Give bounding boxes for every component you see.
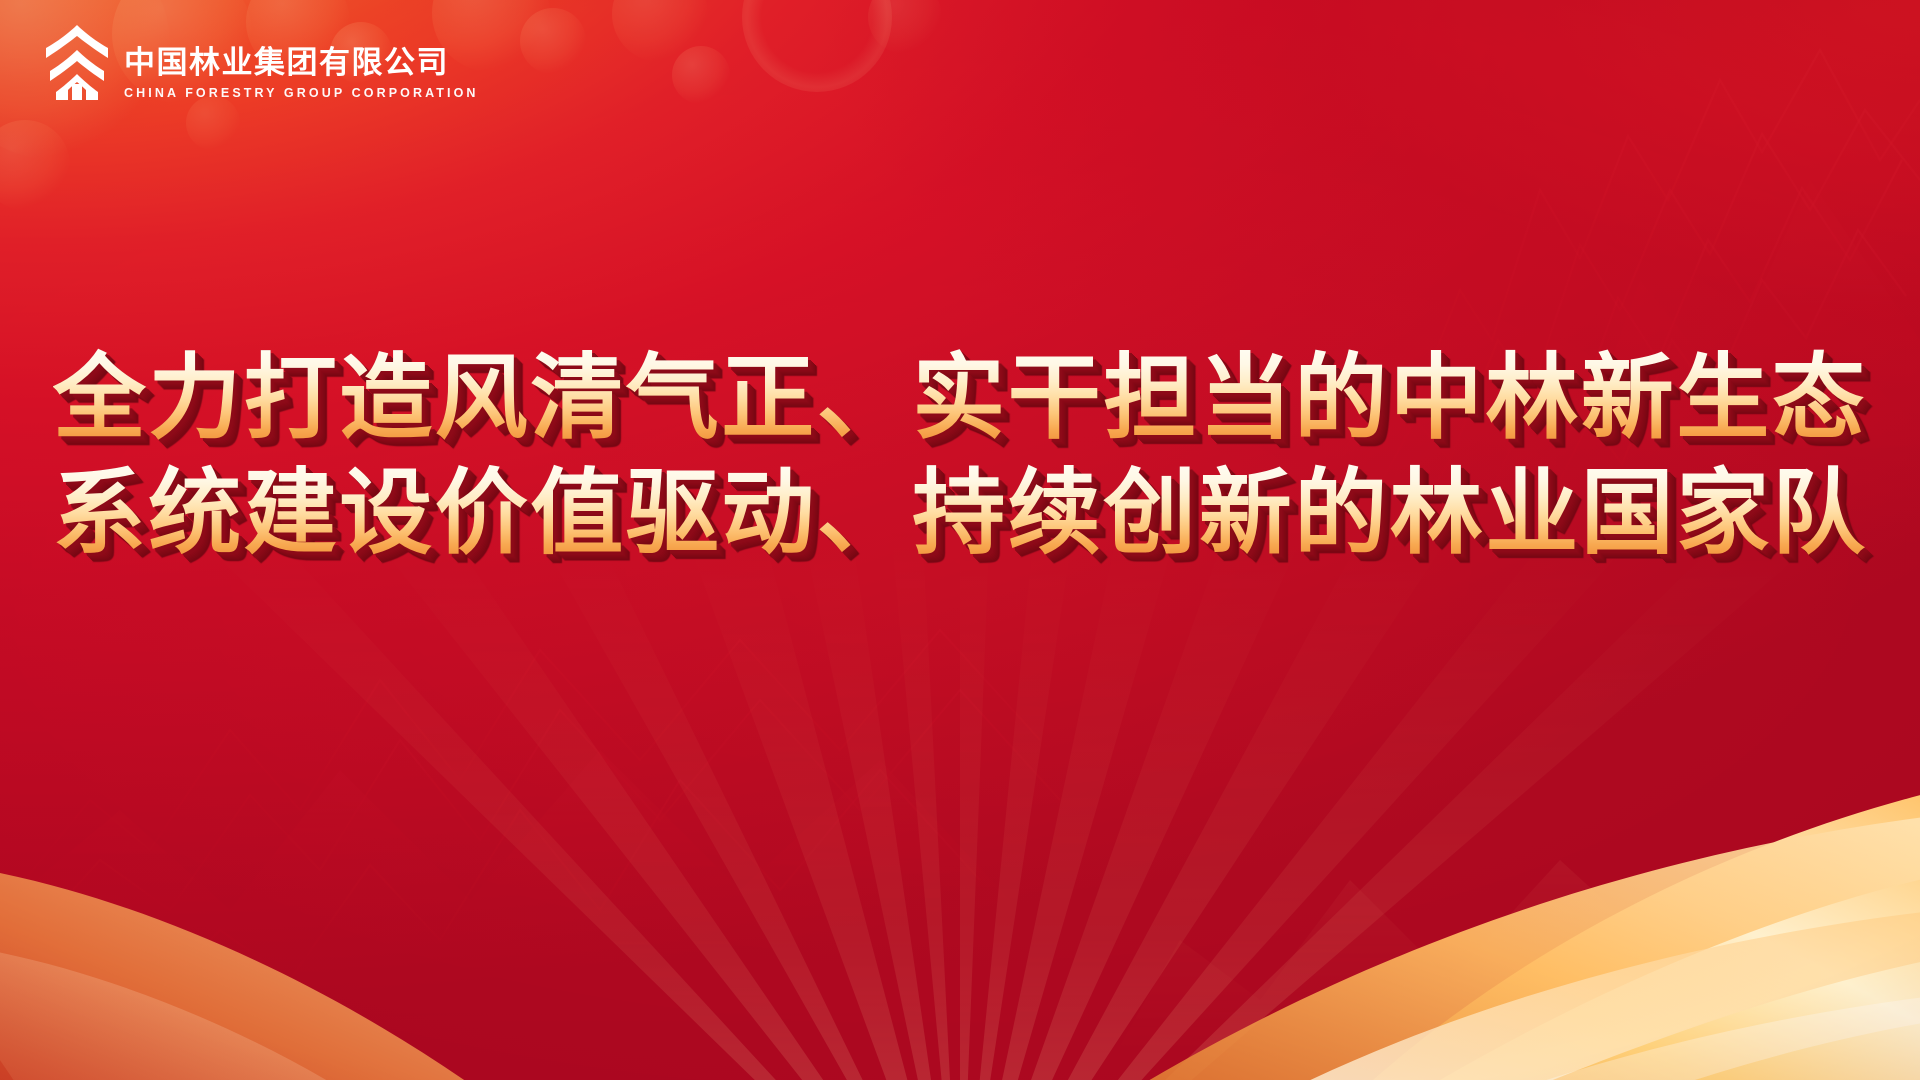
company-logo: 中国林业集团有限公司 CHINA FORESTRY GROUP CORPORAT… (44, 24, 479, 102)
pagoda-mountain-icon (44, 24, 110, 100)
headline-line-1-text: 全力打造风清气正、实干担当的中林新生态 (53, 346, 1868, 450)
logo-text-block: 中国林业集团有限公司 CHINA FORESTRY GROUP CORPORAT… (124, 47, 479, 102)
logo-company-name-cn: 中国林业集团有限公司 (124, 47, 479, 80)
headline-line-1: 全力打造风清气正、实干担当的中林新生态 全力打造风清气正、实干担当的中林新生态 (53, 352, 1868, 445)
poster-canvas: 中国林业集团有限公司 CHINA FORESTRY GROUP CORPORAT… (0, 0, 1920, 1080)
logo-company-name-en: CHINA FORESTRY GROUP CORPORATION (124, 87, 479, 100)
headline-line-2-text: 系统建设价值驱动、持续创新的林业国家队 (53, 461, 1868, 565)
headline-line-2: 系统建设价值驱动、持续创新的林业国家队 系统建设价值驱动、持续创新的林业国家队 (53, 467, 1868, 560)
headline-block: 全力打造风清气正、实干担当的中林新生态 全力打造风清气正、实干担当的中林新生态 … (0, 352, 1920, 560)
